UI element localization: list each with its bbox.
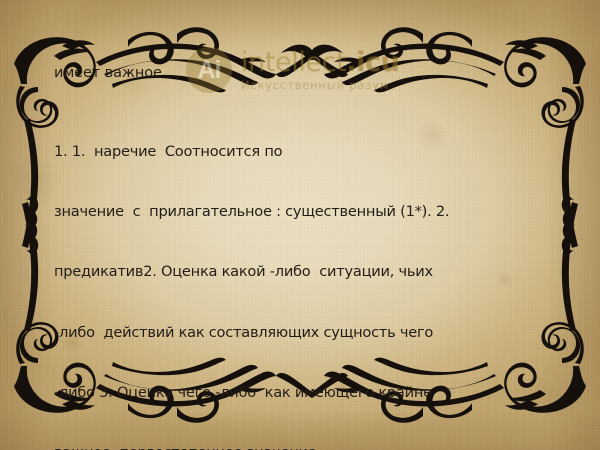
lead-line: имеет важное — [54, 66, 532, 81]
definition-paragraph: 1. 1. наречие Соотносится по значение с … — [54, 102, 532, 450]
definition-line: -либо 3. Оценка чего -либо как имеющего … — [54, 383, 532, 403]
parchment-page: Ai intellect.icu Искусственный разум име… — [0, 0, 600, 450]
definition-line: важное, первостепенное значение. — [54, 443, 532, 450]
definition-line: предикатив2. Оценка какой -либо ситуации… — [54, 262, 532, 282]
article-text: имеет важное 1. 1. наречие Соотносится п… — [54, 66, 532, 450]
definition-line: -либо действий как составляющих сущность… — [54, 323, 532, 343]
definition-line: значение с прилагательное : существенный… — [54, 202, 532, 222]
definition-line: 1. 1. наречие Соотносится по — [54, 142, 532, 162]
